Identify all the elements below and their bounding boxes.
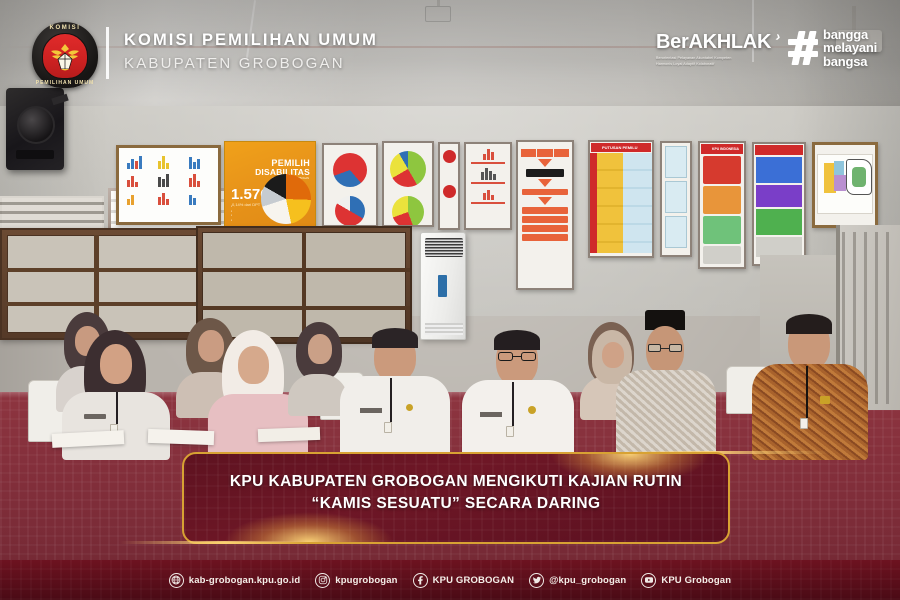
- footer-bar: kab-grobogan.kpu.go.id kpugrobogan: [0, 560, 900, 600]
- page-subtitle: KABUPATEN GROBOGAN: [124, 55, 345, 72]
- header-divider: [106, 27, 109, 79]
- footer-item-twitter[interactable]: @kpu_grobogan: [529, 573, 626, 588]
- glasses-icon: [648, 344, 682, 352]
- bangga-line-2: melayani: [823, 41, 877, 54]
- pie-chart: [392, 196, 424, 227]
- hashtag-icon: [788, 31, 818, 65]
- poster-heading: [384, 190, 432, 193]
- air-conditioner: [420, 232, 466, 340]
- footer-label-instagram: kpugrobogan: [335, 575, 397, 586]
- kpu-logo-bottom-text: PEMILIHAN UMUM: [32, 80, 98, 86]
- page-title: KOMISI PEMILIHAN UMUM: [124, 31, 378, 50]
- wall-poster-text-a: [660, 141, 692, 257]
- kpu-logo-top-text: KOMISI: [32, 25, 98, 31]
- instagram-icon: [315, 573, 330, 588]
- wall-poster-bars-b: [464, 142, 512, 230]
- hair: [494, 330, 540, 350]
- wall-poster-stacked-colors: KPU INDONESIA: [698, 141, 746, 269]
- hair: [372, 328, 418, 348]
- berakhlak-logo: BerAKHLAK › Berorientasi Pelayanan Akunt…: [656, 32, 771, 67]
- poster-table-header: PUTUSAN PEMILU: [591, 143, 651, 152]
- poster-heading: [324, 190, 376, 193]
- poster-legend: ▪▪▪▪: [231, 204, 232, 223]
- wall-poster-narrow-a: [438, 142, 460, 230]
- poster-pie-chart: [261, 174, 311, 224]
- name-tag: [84, 414, 106, 419]
- pie-chart: [390, 151, 426, 187]
- pie-chart: [333, 153, 367, 187]
- ac-base-vent: [425, 323, 463, 335]
- lapel-pin: [406, 404, 413, 411]
- bookshelf-center: [196, 226, 412, 344]
- glasses-icon: [498, 352, 536, 361]
- banner-text: KPU KABUPATEN GROBOGAN MENGIKUTI KAJIAN …: [184, 471, 728, 516]
- poster-heading: [384, 145, 432, 148]
- lapel-pin: [528, 406, 536, 414]
- header-overlay: KOMISI PEMILIHAN UMUM KOMISI PEMILIHAN U…: [0, 0, 900, 100]
- hair: [786, 314, 832, 334]
- bangga-melayani-bangsa-logo: bangga melayani bangsa: [788, 28, 877, 68]
- poster-figure-caption: 0,14% dari DPT: [232, 202, 260, 207]
- footer-item-youtube[interactable]: KPU Grobogan: [641, 573, 731, 588]
- papers: [258, 427, 320, 442]
- banner-line-2: “KAMIS SESUATU” SECARA DARING: [184, 493, 728, 515]
- garuda-icon: [48, 42, 82, 72]
- banner-glow-bottom-left: [224, 512, 394, 544]
- wall-poster-charts: [116, 145, 221, 225]
- flow-arrow-icon: [538, 179, 552, 187]
- footer-label-facebook: KPU GROBOGAN: [433, 575, 515, 586]
- youtube-icon: [641, 573, 656, 588]
- berakhlak-tagline-2: Harmonis Loyal Adaptif Kolaboratif: [656, 62, 771, 68]
- footer-item-instagram[interactable]: kpugrobogan: [315, 573, 397, 588]
- footer-item-facebook[interactable]: KPU GROBOGAN: [413, 573, 515, 588]
- speaker-cone: [17, 106, 55, 144]
- poster-heading: [324, 147, 376, 150]
- title-banner: KPU KABUPATEN GROBOGAN MENGIKUTI KAJIAN …: [182, 452, 730, 544]
- social-links: kab-grobogan.kpu.go.id kpugrobogan: [0, 560, 900, 600]
- ac-grille: [425, 238, 463, 257]
- wall-poster-pie-b: [382, 141, 434, 227]
- wall-poster-pie-a: [322, 143, 378, 227]
- wall-poster-color-blocks: [752, 142, 806, 266]
- berakhlak-caret-icon: ›: [775, 28, 783, 45]
- name-tag: [360, 408, 382, 413]
- wall-poster-map: [812, 142, 878, 228]
- name-tag: [480, 412, 502, 417]
- wall-poster-flowchart: [516, 140, 574, 290]
- flow-arrow-icon: [538, 197, 552, 205]
- bangga-line-3: bangsa: [823, 55, 877, 68]
- footer-label-website: kab-grobogan.kpu.go.id: [189, 575, 301, 586]
- berakhlak-wordmark: BerAKHLAK: [656, 31, 771, 53]
- footer-item-website[interactable]: kab-grobogan.kpu.go.id: [169, 573, 301, 588]
- facebook-icon: [413, 573, 428, 588]
- globe-icon: [169, 573, 184, 588]
- wall-poster-pemilih-disabilitas: PEMILIH DISABILITAS PEMILIH DI KAB. GROB…: [224, 141, 316, 229]
- kpu-logo-shield: [42, 33, 88, 79]
- ac-control-panel: [438, 275, 447, 297]
- poster-heading: [518, 144, 572, 147]
- twitter-icon: [529, 573, 544, 588]
- kpu-logo-icon: KOMISI PEMILIHAN UMUM: [32, 22, 98, 88]
- banner-line-1: KPU KABUPATEN GROBOGAN MENGIKUTI KAJIAN …: [184, 471, 728, 493]
- footer-label-twitter: @kpu_grobogan: [549, 575, 626, 586]
- pie-chart: [335, 196, 365, 226]
- wall-poster-table: PUTUSAN PEMILU: [588, 140, 654, 258]
- lapel-emblem: [820, 396, 830, 404]
- footer-label-youtube: KPU Grobogan: [661, 575, 731, 586]
- speaker-port: [16, 150, 54, 159]
- poster-image: PEMILIH DISABILITAS PEMILIH DI KAB. GROB…: [0, 0, 900, 600]
- flow-arrow-icon: [538, 159, 552, 167]
- notebook: [148, 429, 214, 445]
